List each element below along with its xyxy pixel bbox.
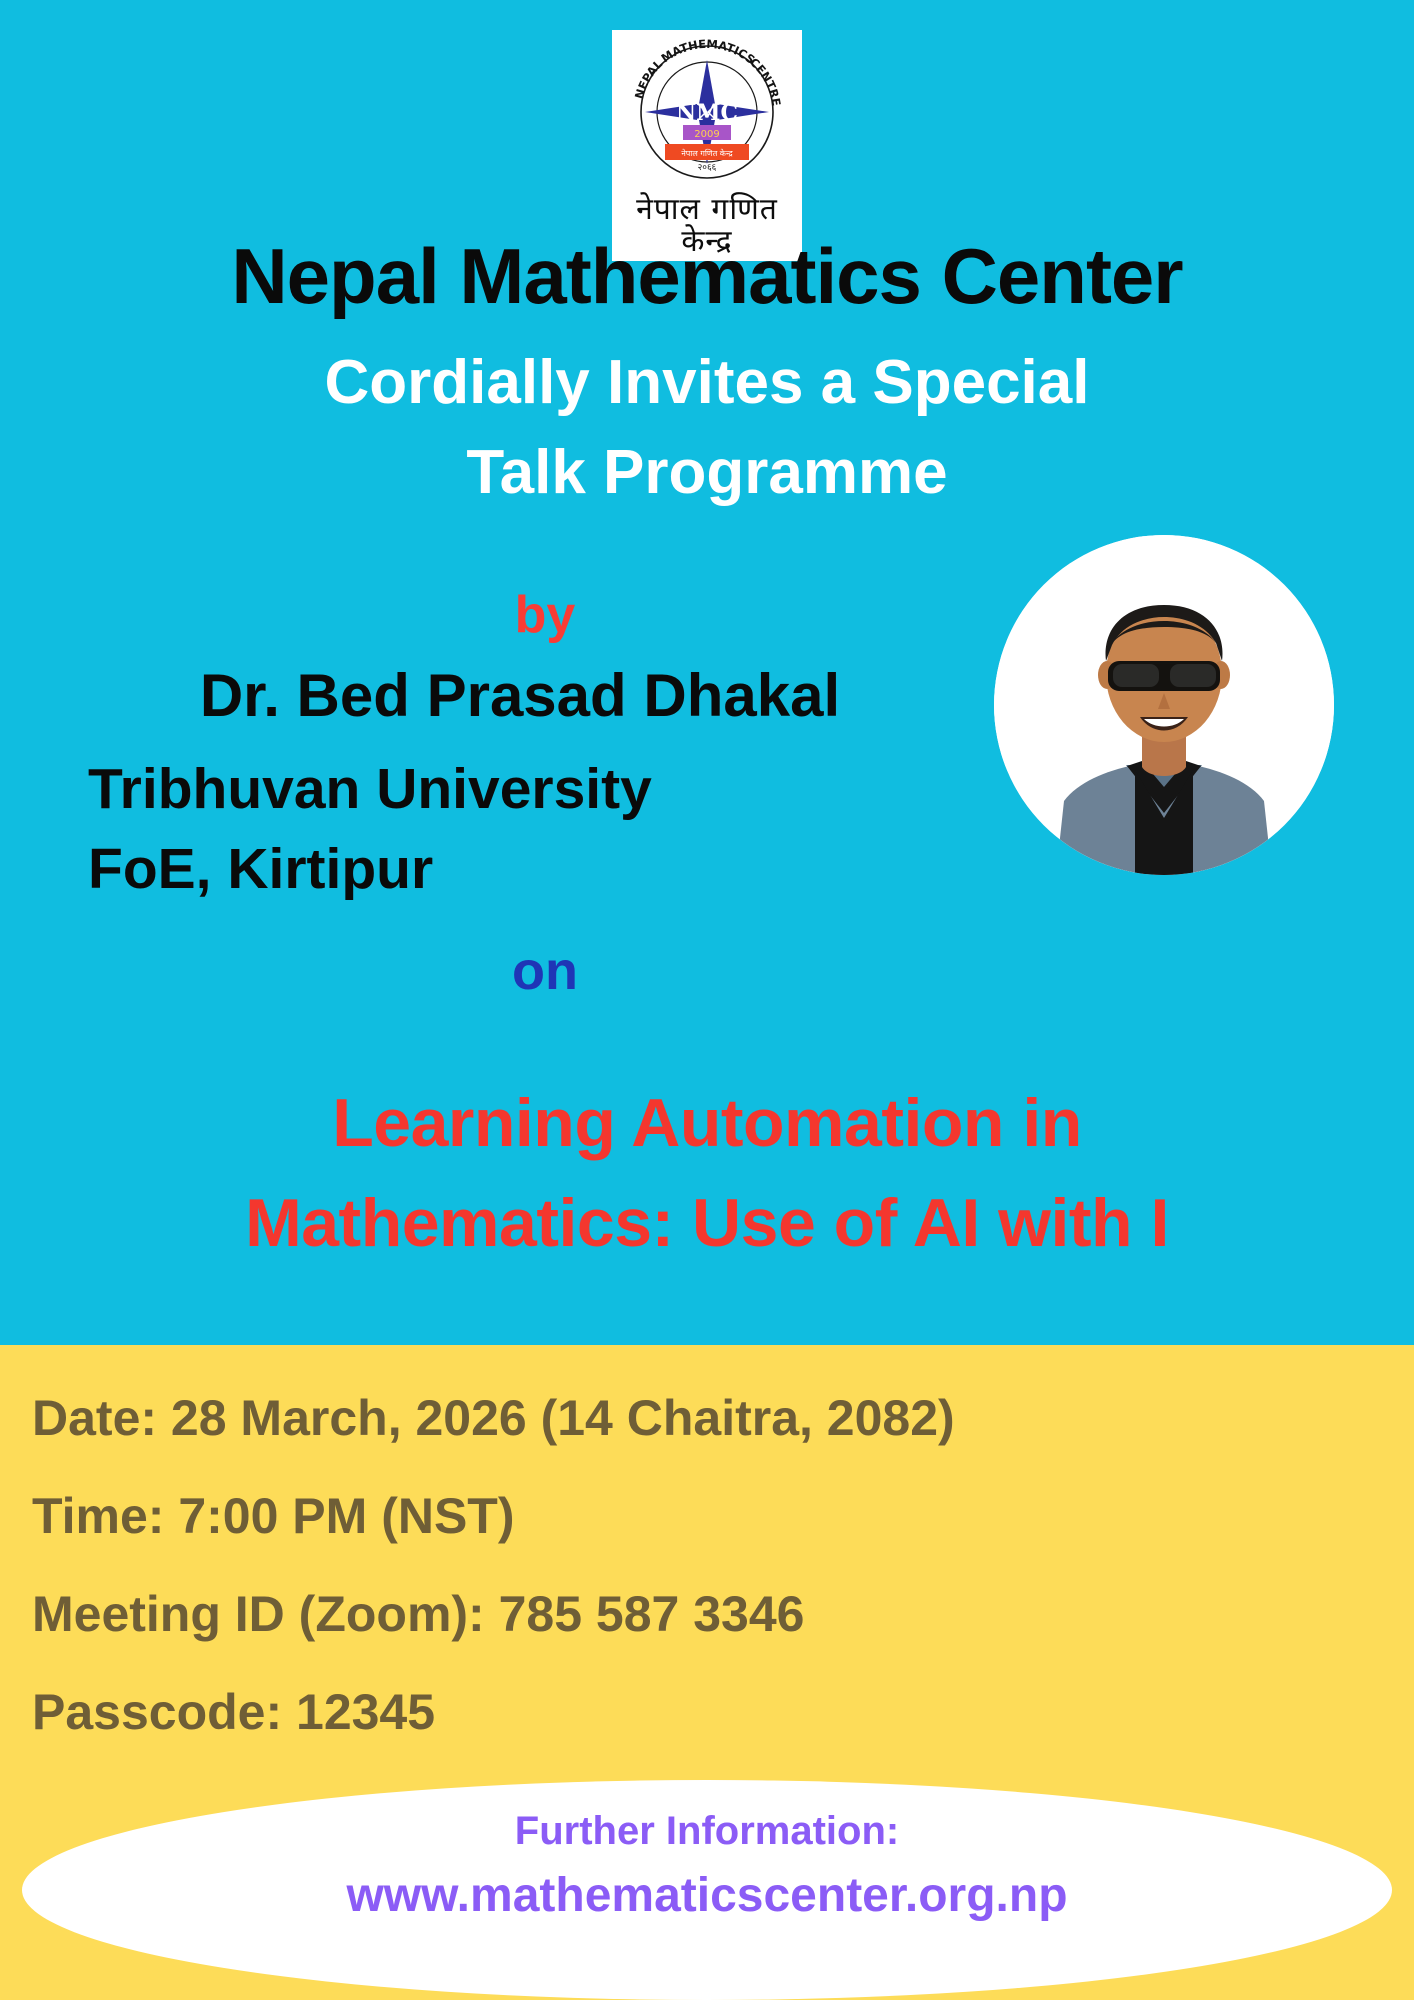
talk-title-line-1: Learning Automation in [0,1085,1414,1161]
further-information-label: Further Information: [22,1808,1392,1854]
invite-line-2: Talk Programme [0,440,1414,505]
footer-content: Further Information: www.mathematicscent… [22,1808,1392,1923]
organization-logo: NMC 2009 नेपाल गणित केन्द्र २०६६ NEPAL M… [612,30,802,261]
speaker-affiliation-line-2: FoE, Kirtipur [88,840,433,900]
svg-text:2009: 2009 [694,129,719,140]
speaker-photo [994,535,1334,875]
detail-date: Date: 28 March, 2026 (14 Chaitra, 2082) [32,1393,1372,1443]
talk-title-line-2: Mathematics: Use of AI with I [0,1185,1414,1261]
website-link[interactable]: www.mathematicscenter.org.np [22,1868,1392,1923]
on-label: on [0,940,1090,1002]
detail-passcode: Passcode: 12345 [32,1687,1372,1737]
speaker-affiliation-line-1: Tribhuvan University [88,760,652,820]
svg-text:NMC: NMC [676,100,738,126]
svg-text:नेपाल गणित केन्द्र: नेपाल गणित केन्द्र [681,148,733,158]
speaker-name: Dr. Bed Prasad Dhakal [0,665,1040,727]
invite-line-1: Cordially Invites a Special [0,350,1414,415]
by-label: by [0,585,1090,645]
organization-title: Nepal Mathematics Center [0,237,1414,317]
event-poster: NMC 2009 नेपाल गणित केन्द्र २०६६ NEPAL M… [0,0,1414,2000]
detail-meeting-id: Meeting ID (Zoom): 785 587 3346 [32,1589,1372,1639]
detail-time: Time: 7:00 PM (NST) [32,1491,1372,1541]
event-details-list: Date: 28 March, 2026 (14 Chaitra, 2082) … [32,1393,1372,1785]
footer-banner: Further Information: www.mathematicscent… [22,1780,1392,2000]
nmc-emblem-icon: NMC 2009 नेपाल गणित केन्द्र २०६६ NEPAL M… [627,34,787,194]
svg-text:२०६६: २०६६ [698,163,717,173]
